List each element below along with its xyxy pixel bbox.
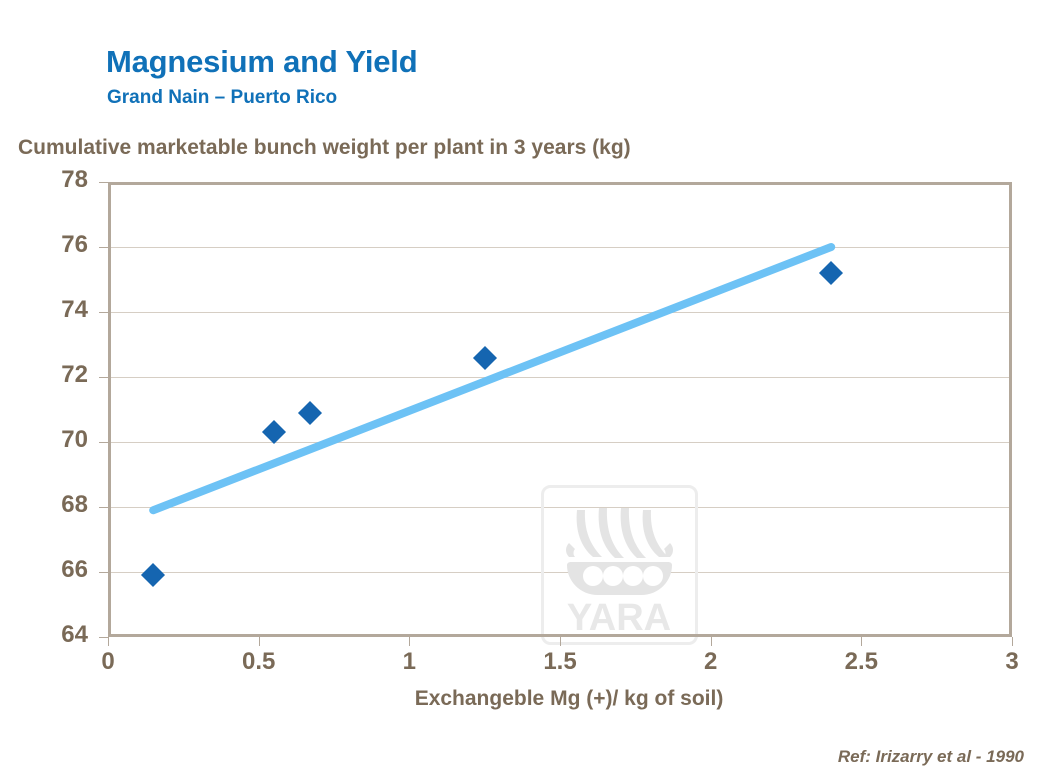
y-tick-label: 70 [28,426,88,454]
x-tick-label: 3 [972,648,1038,676]
x-tick-label: 2.5 [821,648,901,676]
y-tick-label: 76 [28,231,88,259]
x-tick-mark [1012,637,1013,646]
reference-note: Ref: Irizarry et al - 1990 [838,747,1024,767]
plot-frame [108,182,1012,637]
plot-area: YARA [108,182,1012,637]
x-tick-mark [711,637,712,646]
x-tick-label: 0.5 [219,648,299,676]
page-title: Magnesium and Yield [106,44,417,80]
x-tick-mark [560,637,561,646]
x-tick-mark [108,637,109,646]
x-tick-mark [861,637,862,646]
y-tick-mark [99,312,108,313]
x-tick-label: 2 [671,648,751,676]
y-tick-label: 68 [28,491,88,519]
y-tick-label: 78 [28,166,88,194]
y-tick-label: 66 [28,556,88,584]
y-tick-label: 74 [28,296,88,324]
x-tick-mark [259,637,260,646]
y-tick-mark [99,507,108,508]
x-tick-mark [409,637,410,646]
y-tick-mark [99,377,108,378]
x-axis-title: Exchangeble Mg (+)/ kg of soil) [0,687,1038,711]
y-tick-mark [99,442,108,443]
x-tick-label: 0 [68,648,148,676]
x-tick-label: 1.5 [520,648,600,676]
y-tick-mark [99,182,108,183]
y-axis-title: Cumulative marketable bunch weight per p… [18,136,631,160]
y-tick-label: 64 [28,621,88,649]
x-axis-title-text: Exchangeble Mg (+)/ kg of soil) [315,687,724,710]
y-tick-mark [99,637,108,638]
y-tick-mark [99,572,108,573]
x-tick-label: 1 [369,648,449,676]
y-tick-label: 72 [28,361,88,389]
y-tick-mark [99,247,108,248]
page-subtitle: Grand Nain – Puerto Rico [107,87,337,109]
